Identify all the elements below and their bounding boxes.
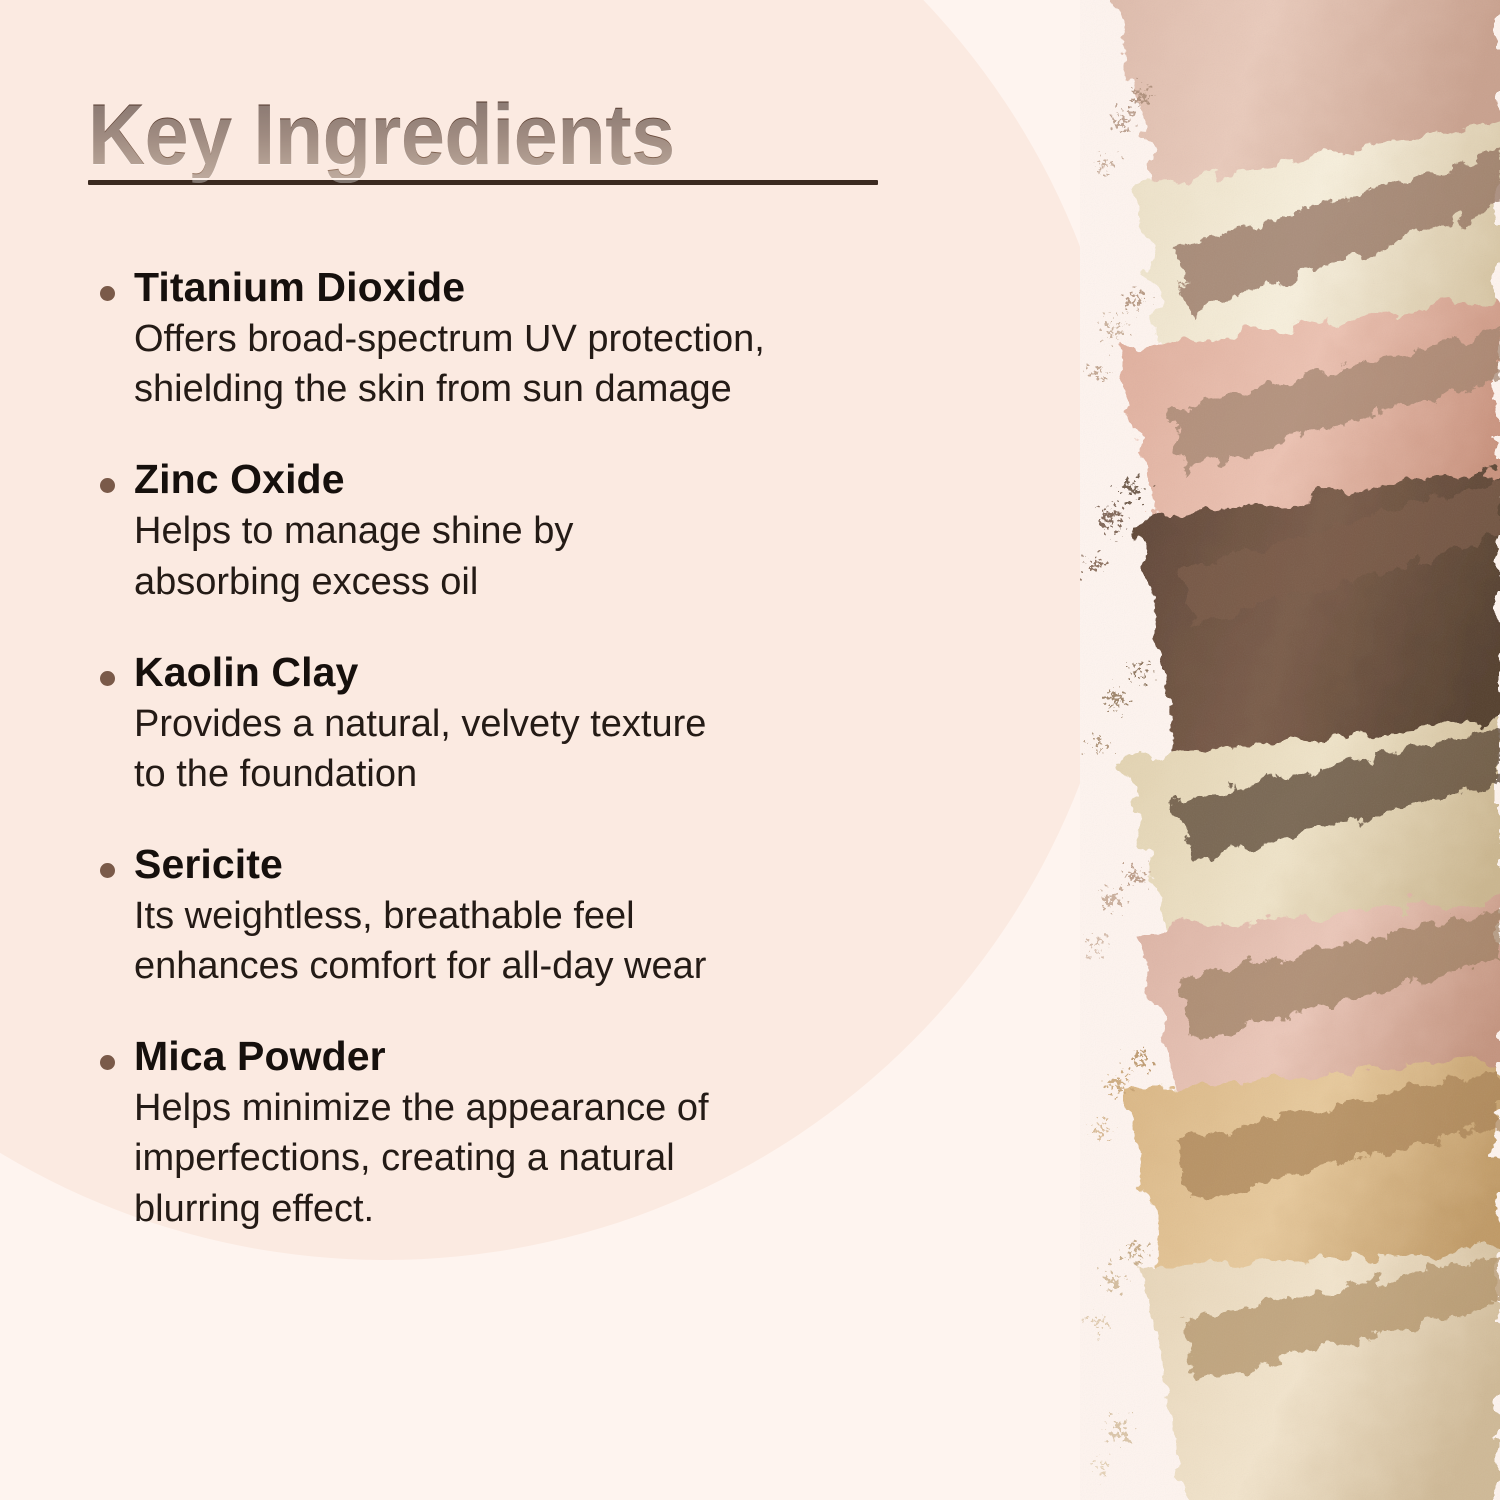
content-column: Key Ingredients Titanium Dioxide Offers … [0, 0, 1050, 1500]
ingredient-description: Helps to manage shine by absorbing exces… [134, 506, 988, 606]
ingredient-name: Sericite [134, 839, 988, 889]
bullet-dot-icon [100, 671, 115, 686]
bullet-dot-icon [100, 1055, 115, 1070]
list-item: Sericite Its weightless, breathable feel… [88, 839, 988, 991]
bullet-dot-icon [100, 286, 115, 301]
ingredient-name: Mica Powder [134, 1031, 988, 1081]
bullet-dot-icon [100, 863, 115, 878]
page-title: Key Ingredients [88, 92, 824, 178]
ingredient-name: Zinc Oxide [134, 454, 988, 504]
ingredient-name: Kaolin Clay [134, 647, 988, 697]
list-item: Mica Powder Helps minimize the appearanc… [88, 1031, 988, 1233]
ingredient-description: Helps minimize the appearance of imperfe… [134, 1083, 988, 1233]
ingredient-description: Provides a natural, velvety texture to t… [134, 699, 988, 799]
list-item: Zinc Oxide Helps to manage shine by abso… [88, 454, 988, 606]
title-block: Key Ingredients [88, 92, 888, 185]
ingredient-name: Titanium Dioxide [134, 262, 988, 312]
powder-swatch-image [1080, 0, 1500, 1500]
ingredient-description: Offers broad-spectrum UV protection, shi… [134, 314, 988, 414]
key-ingredients-infographic: Key Ingredients Titanium Dioxide Offers … [0, 0, 1500, 1500]
list-item: Kaolin Clay Provides a natural, velvety … [88, 647, 988, 799]
ingredient-list: Titanium Dioxide Offers broad-spectrum U… [88, 262, 988, 1234]
ingredient-description: Its weightless, breathable feel enhances… [134, 891, 988, 991]
bullet-dot-icon [100, 478, 115, 493]
list-item: Titanium Dioxide Offers broad-spectrum U… [88, 262, 988, 414]
